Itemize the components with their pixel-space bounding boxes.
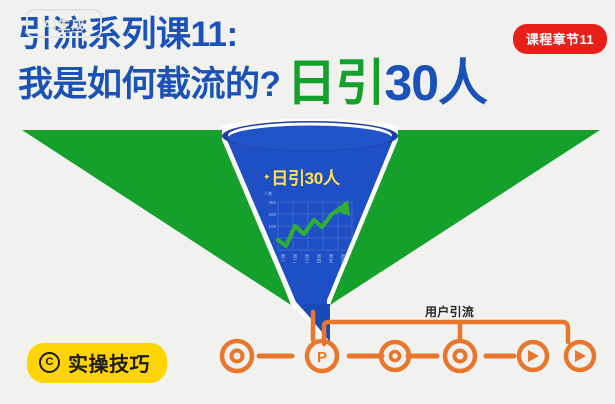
ai-watermark: AI生成 [26,9,102,38]
chart-xtick-1: 周二 [292,254,298,404]
flow-node-3[interactable] [381,342,409,370]
flow-node-4[interactable] [445,341,475,371]
headline-emphasis-blue: 30人 [384,55,487,111]
ai-watermark-label: AI生成 [42,14,85,33]
funnel-rim-face [228,126,392,151]
chart-xtick-0: 周一 [280,254,286,404]
flow-node-6[interactable] [566,342,594,370]
skill-badge[interactable]: C 实操技巧 [27,343,167,383]
flow-node-1[interactable] [222,341,252,371]
poster-canvas: 人数 300 200 100 周一 周二 周三 周四 周五 周六 ✦日引30人 … [0,0,615,404]
chart-xtick-3: 周四 [316,254,322,404]
chart-xtick-5: 周六 [340,254,346,404]
headline-line-2: 我是如何截流的? [18,66,280,104]
headline-emphasis-green: 日引 [286,55,384,111]
chapter-badge-label: 课程章节11 [526,32,594,47]
sparkle-icon: ✦ [263,172,270,183]
chart-ytick-0: 300 [262,200,276,205]
chart-xtick-4: 周五 [328,254,334,404]
chart-xtick-2: 周三 [304,254,310,404]
skill-badge-label: 实操技巧 [68,348,150,377]
chart-ylabel: 人数 [264,191,272,197]
funnel-caption: ✦日引30人 [263,164,340,189]
copyright-icon: C [39,352,60,373]
headline-line-2-row: 我是如何截流的? 日引30人 [18,56,487,104]
chart-ytick-2: 100 [262,224,276,229]
flow-node-5[interactable] [519,342,547,370]
chart-ytick-1: 200 [262,212,276,217]
headline-emphasis: 日引30人 [286,59,487,107]
funnel-caption-text: 日引30人 [271,169,339,188]
flow-label: 用户引流 [425,303,474,320]
chapter-badge[interactable]: 课程章节11 [513,24,607,54]
